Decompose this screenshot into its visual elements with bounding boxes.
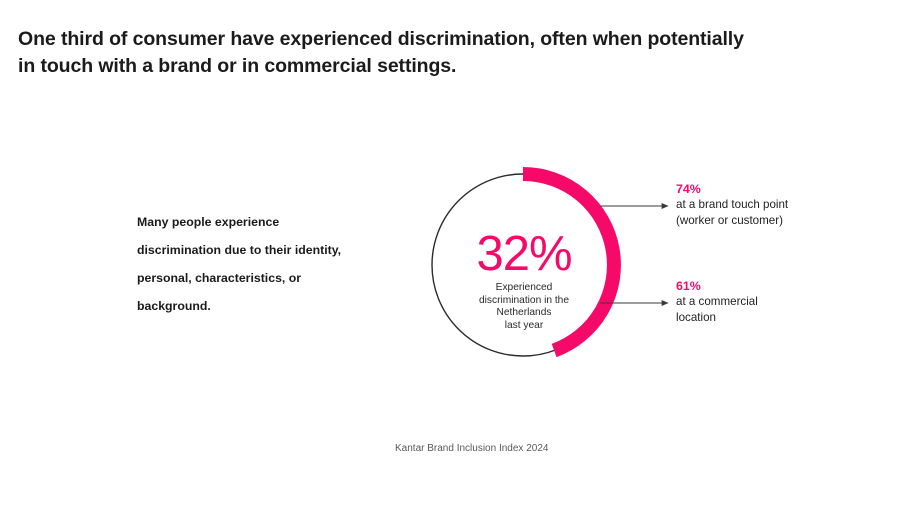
donut-caption: Experienced discrimination in the Nether… [448,282,600,332]
callout-1-percent: 74% [676,181,876,197]
callout-commercial-location: 61% at a commercial location [676,278,876,325]
callout-2-percent: 61% [676,278,876,294]
source-note: Kantar Brand Inclusion Index 2024 [395,442,548,455]
lead-line-1: Many people experience [137,208,427,236]
donut-center-label: 32% Experienced discrimination in the Ne… [448,228,600,332]
lead-line-3: personal, characteristics, or [137,264,427,292]
donut-caption-line-2: discrimination in the [448,295,600,308]
callout-brand-touch-point: 74% at a brand touch point (worker or cu… [676,181,876,228]
donut-caption-line-1: Experienced [448,282,600,295]
callout-2-description: at a commercial location [676,294,876,325]
callout-2-desc-line-1: at a commercial [676,294,876,310]
callout-1-description: at a brand touch point (worker or custom… [676,197,876,228]
title-line-2: in touch with a brand or in commercial s… [18,53,880,80]
lead-paragraph: Many people experience discrimination du… [137,208,427,320]
donut-caption-line-3: Netherlands [448,307,600,320]
callout-2-desc-line-2: location [676,310,876,326]
lead-line-2: discrimination due to their identity, [137,236,427,264]
page-title: One third of consumer have experienced d… [18,26,880,80]
title-line-1: One third of consumer have experienced d… [18,28,744,50]
donut-value: 32% [448,228,600,280]
slide-canvas: One third of consumer have experienced d… [0,0,900,518]
donut-caption-line-4: last year [448,320,600,333]
lead-line-4: background. [137,292,427,320]
callout-1-desc-line-1: at a brand touch point [676,197,876,213]
callout-1-desc-line-2: (worker or customer) [676,213,876,229]
